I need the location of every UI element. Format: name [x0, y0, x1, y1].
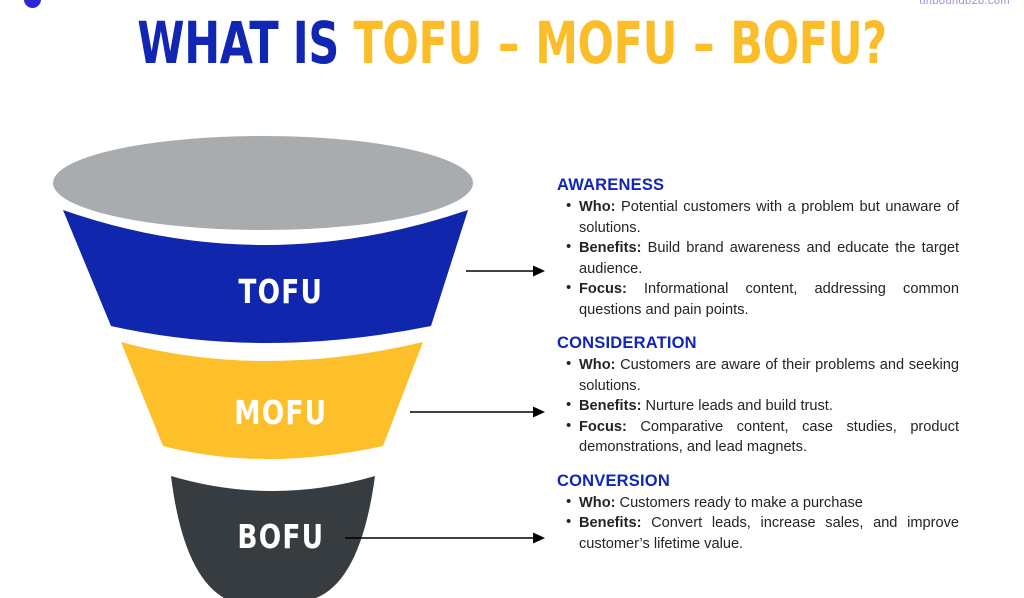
point-text: Customers ready to make a purchase [615, 495, 862, 511]
point-text: Comparative content, case studies, produ… [579, 419, 959, 456]
list-item: Benefits: Convert leads, increase sales,… [579, 513, 959, 554]
page-title-tofu: TOFU [354, 9, 482, 77]
list-item: Who: Customers are aware of their proble… [579, 355, 959, 396]
point-label: Who: [579, 357, 615, 373]
funnel-label-tofu: TOFU [238, 273, 323, 312]
point-label: Focus: [579, 419, 627, 435]
point-label: Focus: [579, 281, 627, 297]
point-label: Benefits: [579, 240, 641, 256]
list-item: Who: Potential customers with a problem … [579, 197, 959, 238]
stage-points-consideration: Who: Customers are aware of their proble… [557, 355, 959, 458]
list-item: Who: Customers ready to make a purchase [579, 493, 959, 514]
point-text: Customers are aware of their problems an… [579, 357, 959, 394]
stage-heading-consideration: CONSIDERATION [557, 334, 959, 353]
list-item: Benefits: Nurture leads and build trust. [579, 396, 959, 417]
site-url-text: unboundb2b.com [919, 0, 1010, 7]
funnel-label-mofu: MOFU [234, 394, 327, 433]
stage-points-conversion: Who: Customers ready to make a purchase … [557, 493, 959, 555]
point-label: Benefits: [579, 398, 641, 414]
funnel-label-bofu: BOFU [237, 518, 324, 557]
funnel-top-ellipse-icon [53, 136, 473, 230]
stage-block-conversion: CONVERSION Who: Customers ready to make … [557, 472, 959, 555]
list-item: Benefits: Build brand awareness and educ… [579, 238, 959, 279]
stage-details-panel: AWARENESS Who: Potential customers with … [557, 176, 959, 554]
point-label: Who: [579, 199, 615, 215]
page-title-separator-2: – [692, 9, 716, 77]
stage-points-awareness: Who: Potential customers with a problem … [557, 197, 959, 320]
point-label: Who: [579, 495, 615, 511]
brand-logo-icon [24, 0, 41, 8]
stage-heading-conversion: CONVERSION [557, 472, 959, 491]
stage-heading-awareness: AWARENESS [557, 176, 959, 195]
point-text: Nurture leads and build trust. [641, 398, 832, 414]
page-title-mofu: MOFU [535, 9, 677, 77]
funnel-diagram: TOFU MOFU BOFU [28, 128, 548, 598]
page-title: WHAT IS TOFU – MOFU – BOFU? [133, 8, 891, 78]
page-title-separator-1: – [497, 9, 521, 77]
list-item: Focus: Comparative content, case studies… [579, 417, 959, 458]
point-label: Benefits: [579, 515, 641, 531]
stage-block-consideration: CONSIDERATION Who: Customers are aware o… [557, 334, 959, 458]
point-text: Informational content, addressing common… [579, 281, 959, 318]
stage-block-awareness: AWARENESS Who: Potential customers with … [557, 176, 959, 320]
page-title-bofu: BOFU? [730, 9, 886, 77]
page-title-lead: WHAT IS [137, 9, 339, 77]
point-text: Potential customers with a problem but u… [579, 199, 959, 236]
list-item: Focus: Informational content, addressing… [579, 279, 959, 320]
